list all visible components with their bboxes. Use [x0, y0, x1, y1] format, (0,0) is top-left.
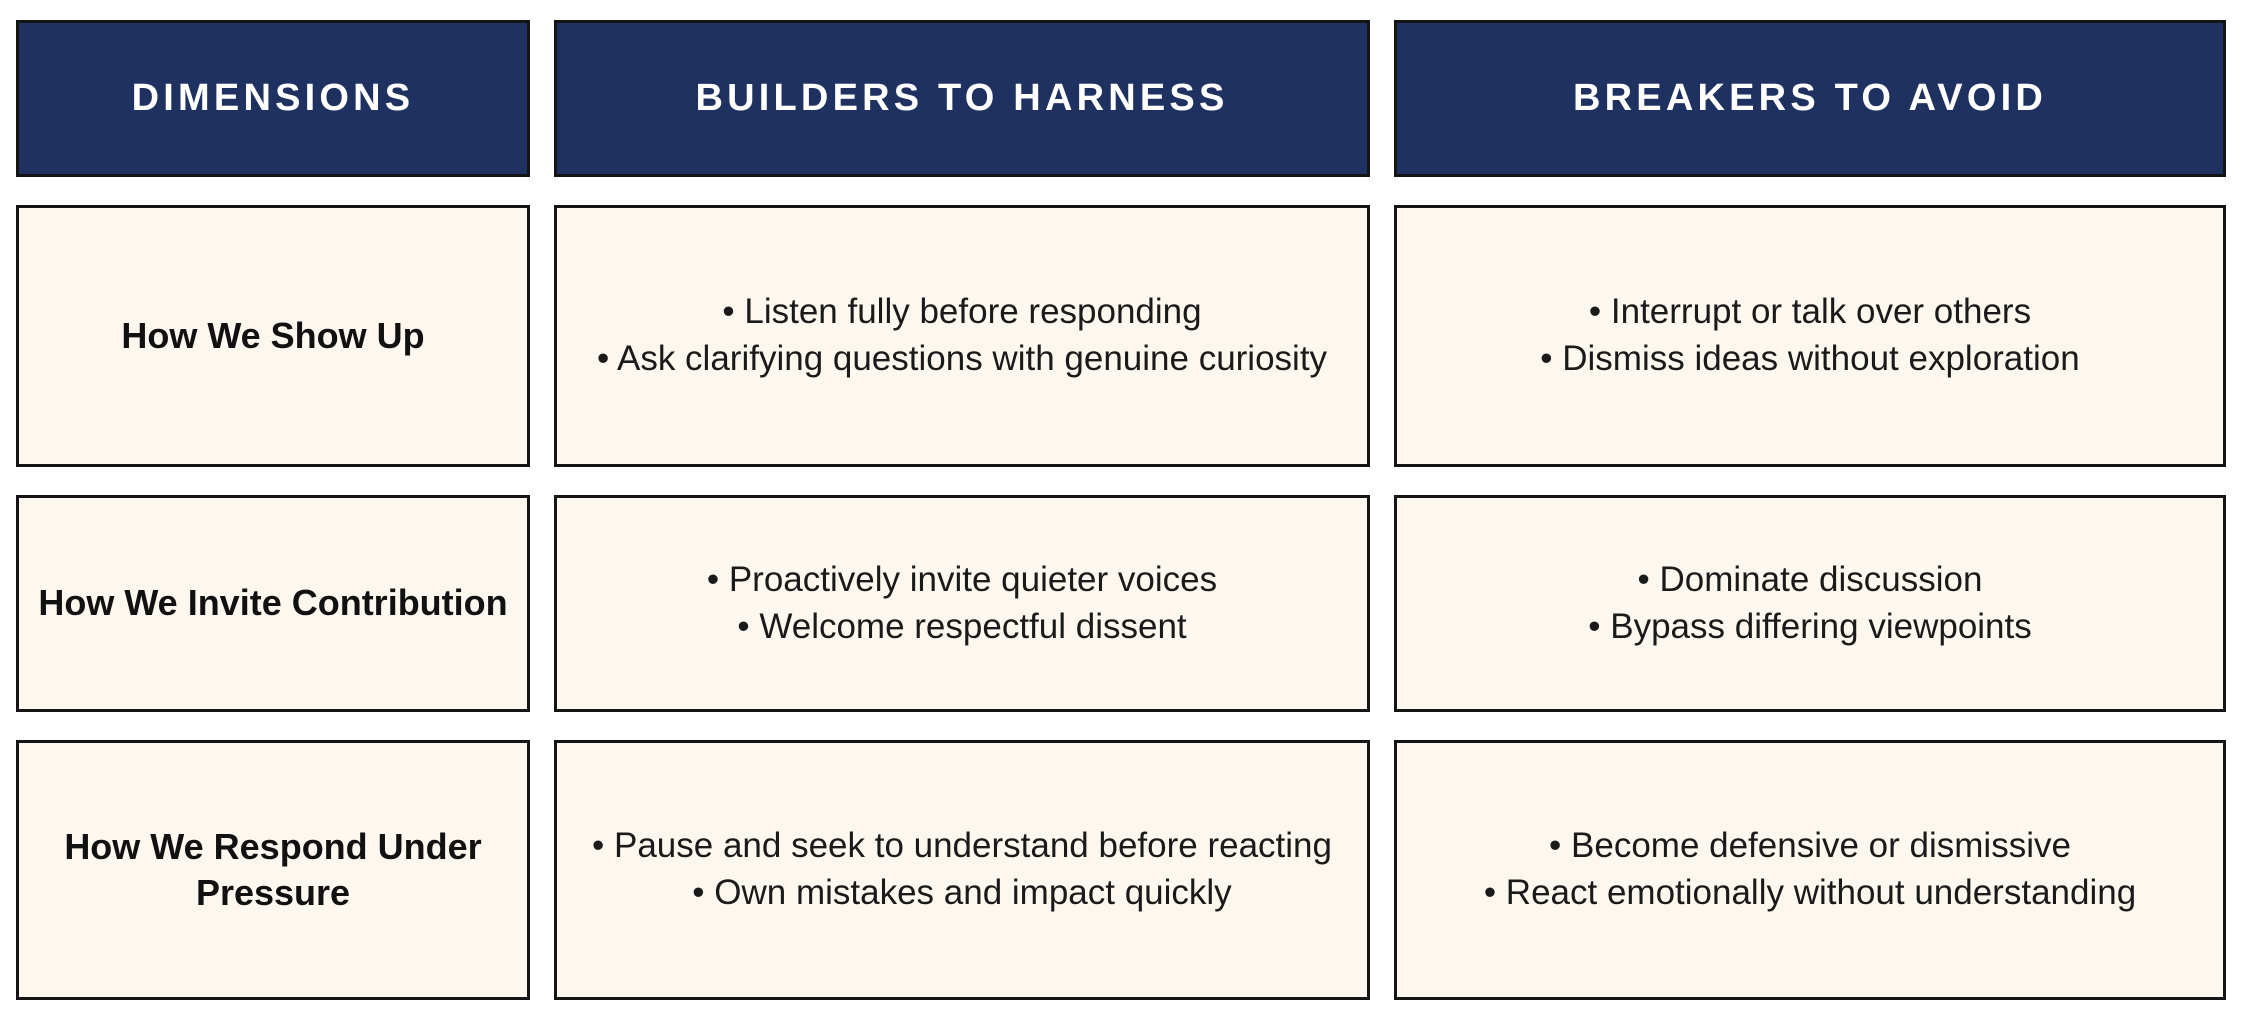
list-item: • Ask clarifying questions with genuine … [575, 336, 1349, 383]
list-item: • Dominate discussion [1415, 557, 2205, 604]
breakers-cell: • Dominate discussion • Bypass differing… [1394, 495, 2226, 712]
breakers-cell: • Become defensive or dismissive • React… [1394, 740, 2226, 1000]
builders-cell: • Listen fully before responding • Ask c… [554, 205, 1370, 467]
breakers-cell: • Interrupt or talk over others • Dismis… [1394, 205, 2226, 467]
column-header-builders-label: BUILDERS TO HARNESS [695, 77, 1228, 121]
builders-cell: • Pause and seek to understand before re… [554, 740, 1370, 1000]
list-item: • Own mistakes and impact quickly [575, 870, 1349, 917]
list-item: • Become defensive or dismissive [1415, 823, 2205, 870]
list-item: • Proactively invite quieter voices [575, 557, 1349, 604]
dimension-label: How We Respond Under Pressure [37, 824, 509, 916]
breakers-list: • Interrupt or talk over others • Dismis… [1415, 289, 2205, 382]
builders-cell: • Proactively invite quieter voices • We… [554, 495, 1370, 712]
column-header-breakers-label: BREAKERS TO AVOID [1573, 77, 2047, 121]
builders-breakers-matrix: DIMENSIONS BUILDERS TO HARNESS BREAKERS … [16, 20, 2226, 997]
list-item: • React emotionally without understandin… [1415, 870, 2205, 917]
table-row: How We Show Up [16, 205, 530, 467]
table-row: How We Respond Under Pressure [16, 740, 530, 1000]
list-item: • Listen fully before responding [575, 289, 1349, 336]
column-header-builders: BUILDERS TO HARNESS [554, 20, 1370, 177]
list-item: • Interrupt or talk over others [1415, 289, 2205, 336]
breakers-list: • Dominate discussion • Bypass differing… [1415, 557, 2205, 650]
list-item: • Pause and seek to understand before re… [575, 823, 1349, 870]
dimension-label: How We Invite Contribution [38, 580, 507, 626]
dimension-label: How We Show Up [121, 313, 424, 359]
column-header-dimensions-label: DIMENSIONS [132, 77, 415, 121]
table-row: How We Invite Contribution [16, 495, 530, 712]
builders-list: • Pause and seek to understand before re… [575, 823, 1349, 916]
column-header-breakers: BREAKERS TO AVOID [1394, 20, 2226, 177]
list-item: • Dismiss ideas without exploration [1415, 336, 2205, 383]
list-item: • Bypass differing viewpoints [1415, 604, 2205, 651]
list-item: • Welcome respectful dissent [575, 604, 1349, 651]
breakers-list: • Become defensive or dismissive • React… [1415, 823, 2205, 916]
builders-list: • Listen fully before responding • Ask c… [575, 289, 1349, 382]
builders-list: • Proactively invite quieter voices • We… [575, 557, 1349, 650]
column-header-dimensions: DIMENSIONS [16, 20, 530, 177]
